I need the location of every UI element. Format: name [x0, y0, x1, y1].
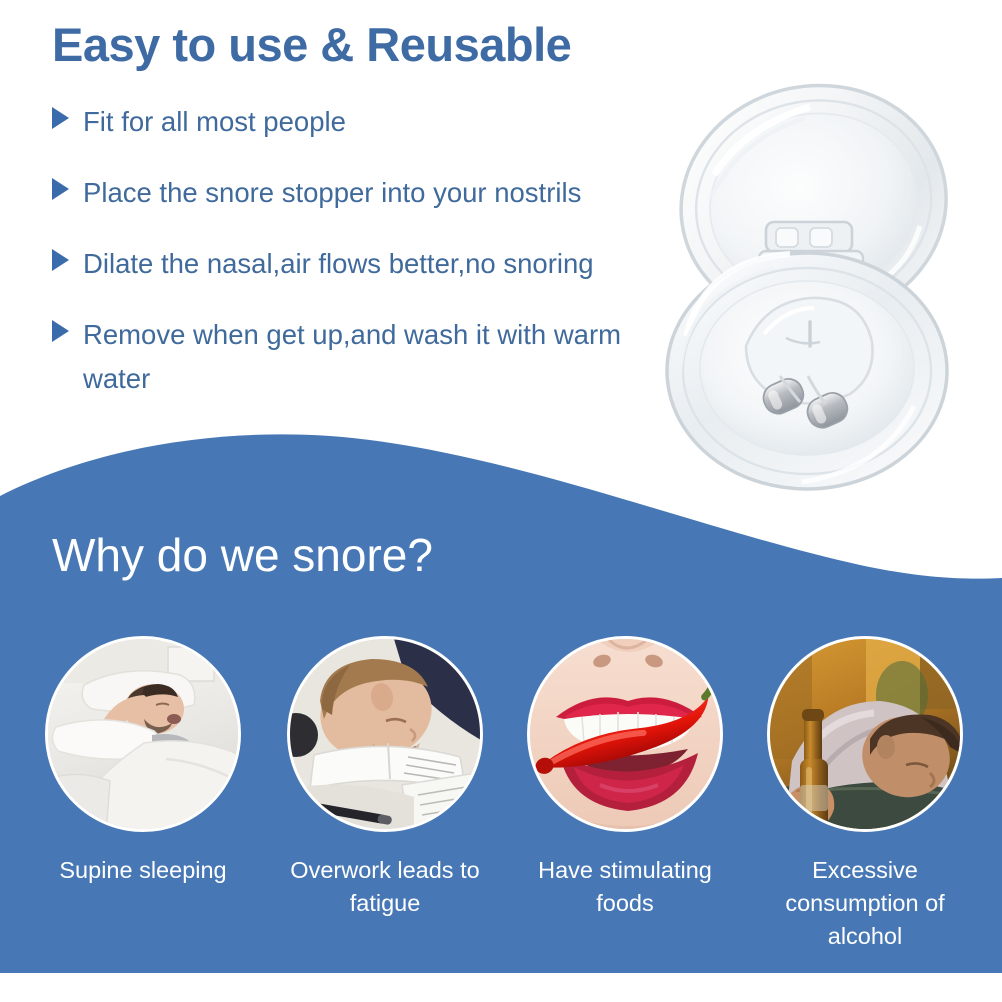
cause-item-stimulating-foods: Have stimulating foods: [517, 636, 733, 920]
list-item-label: Dilate the nasal,air flows better,no sno…: [83, 242, 594, 286]
list-item-label: Fit for all most people: [83, 100, 346, 144]
product-infographic: Easy to use & Reusable Fit for all most …: [0, 0, 1002, 1002]
cause-photo-overwork-fatigue: [287, 636, 483, 832]
triangle-right-icon: [52, 107, 69, 129]
triangle-right-icon: [52, 320, 69, 342]
triangle-right-icon: [52, 178, 69, 200]
cause-item-alcohol: Excessive consumption of alcohol: [757, 636, 973, 953]
triangle-right-icon: [52, 249, 69, 271]
bottom-white-strip: [0, 973, 1002, 1002]
cause-label: Overwork leads to fatigue: [277, 854, 493, 920]
cause-label: Supine sleeping: [35, 854, 251, 887]
cause-label: Excessive consumption of alcohol: [757, 854, 973, 953]
cause-photo-supine-sleeping: [45, 636, 241, 832]
list-item-label: Remove when get up,and wash it with warm…: [83, 313, 643, 401]
list-item: Fit for all most people: [52, 100, 662, 144]
cause-label: Have stimulating foods: [517, 854, 733, 920]
list-item: Remove when get up,and wash it with warm…: [52, 313, 662, 401]
section-heading-why-snore: Why do we snore?: [52, 528, 433, 582]
instruction-list: Fit for all most people Place the snore …: [52, 100, 662, 428]
cause-photo-excessive-alcohol: [767, 636, 963, 832]
page-title: Easy to use & Reusable: [52, 17, 571, 72]
cause-item-supine-sleeping: Supine sleeping: [35, 636, 251, 887]
cause-item-overwork: Overwork leads to fatigue: [277, 636, 493, 920]
cause-photo-stimulating-foods: [527, 636, 723, 832]
list-item: Dilate the nasal,air flows better,no sno…: [52, 242, 662, 286]
snore-causes-list: Supine sleeping: [0, 636, 1002, 976]
list-item-label: Place the snore stopper into your nostri…: [83, 171, 581, 215]
list-item: Place the snore stopper into your nostri…: [52, 171, 662, 215]
